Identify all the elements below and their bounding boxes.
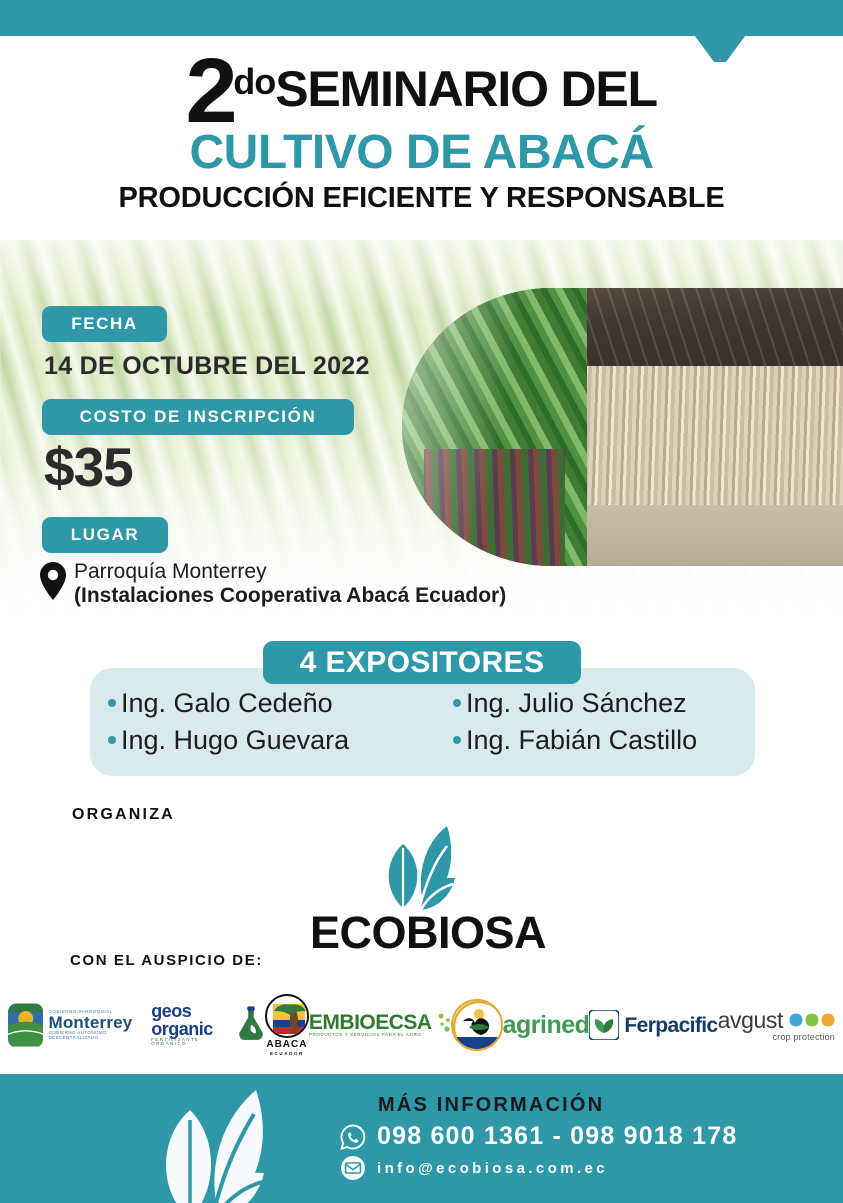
whatsapp-icon[interactable] [340, 1124, 366, 1150]
avgust-subtext: crop protection [772, 1032, 835, 1042]
abaca-circle-icon [265, 994, 309, 1038]
ciasot-badge-icon [451, 999, 503, 1051]
abaca-emblem-icon [267, 996, 309, 1038]
list-item: Ing. Galo Cedeño [108, 688, 453, 719]
geos-text: geos organic FERTILIZANTE ORGÁNICO [151, 1003, 232, 1046]
list-item: Ing. Hugo Guevara [108, 725, 453, 756]
sponsor-ferpacific: Ferpacific [589, 1010, 717, 1040]
ferpacific-name: Ferpacific [624, 1015, 717, 1036]
embioecsa-text: EMBIOECSA PRODUCTOS Y SERVICIOS PARA EL … [309, 1012, 432, 1038]
ecobiosa-wordmark: ECOBIOSA [310, 910, 540, 955]
expositores-title-pill: 4 EXPOSITORES [263, 641, 581, 684]
poster-root: 2 do SEMINARIO DEL CULTIVO DE ABACÁ PROD… [0, 0, 843, 1203]
costo-label-pill: COSTO DE INSCRIPCIÓN [42, 399, 354, 435]
expositores-list: Ing. Galo Cedeño Ing. Julio Sánchez Ing.… [108, 688, 748, 756]
footer-phone-number[interactable]: 098 600 1361 - 098 9018 178 [377, 1122, 737, 1151]
geos-line-2: organic [151, 1021, 232, 1038]
monterrey-subtext: GOBIERNO AUTONOMO DESCENTRALIZADO [48, 1031, 151, 1040]
fecha-label-pill: FECHA [42, 306, 167, 342]
lugar-line-1: Parroquía Monterrey [74, 560, 506, 584]
embioecsa-subtext: PRODUCTOS Y SERVICIOS PARA EL AGRO [309, 1033, 432, 1038]
list-item: Ing. Julio Sánchez [453, 688, 748, 719]
lugar-line-2: (Instalaciones Cooperativa Abacá Ecuador… [74, 584, 506, 608]
abaca-subtext: ECUADOR [270, 1051, 304, 1056]
sponsor-monterrey: GOBIERNO PARROQUIAL Monterrey GOBIERNO A… [8, 1002, 151, 1048]
organiza-label: ORGANIZA [72, 806, 175, 824]
headline-seminario: SEMINARIO DEL [275, 64, 657, 114]
avgust-name: avgust [718, 1009, 783, 1032]
embioecsa-name: EMBIOECSA [309, 1012, 432, 1033]
sponsor-geos-organic: geos organic FERTILIZANTE ORGÁNICO [151, 1003, 265, 1046]
headline-line-2: CULTIVO DE ABACÁ [0, 127, 843, 179]
bullet-dot-icon [453, 736, 461, 744]
monterrey-text: GOBIERNO PARROQUIAL Monterrey GOBIERNO A… [48, 1010, 151, 1041]
geos-subtext: FERTILIZANTE ORGÁNICO [151, 1038, 232, 1047]
abaca-name: ABACA [266, 1039, 307, 1050]
expositor-name: Ing. Julio Sánchez [466, 688, 687, 719]
headline-line-3: PRODUCCIÓN EFICIENTE Y RESPONSABLE [0, 183, 843, 215]
ciasot-emblem-icon [453, 1001, 503, 1051]
agrined-name: agrined [503, 1013, 590, 1038]
lugar-label-pill: LUGAR [42, 517, 168, 553]
sponsor-abaca-ecuador: ABACA ECUADOR [265, 994, 309, 1056]
fecha-value: 14 DE OCTUBRE DEL 2022 [44, 352, 370, 381]
sponsor-ciasot [451, 999, 503, 1051]
footer-email-row[interactable]: info@ecobiosa.com.ec [340, 1155, 608, 1181]
abaca-fiber-photo [402, 288, 843, 566]
envelope-icon[interactable] [340, 1155, 366, 1181]
bullet-dot-icon [108, 736, 116, 744]
ferpacific-leaf-icon [589, 1010, 619, 1040]
footer-phone-row[interactable]: 098 600 1361 - 098 9018 178 [340, 1122, 737, 1151]
avgust-dots-icon [789, 1013, 835, 1027]
lugar-block: Parroquía Monterrey (Instalaciones Coope… [40, 560, 506, 607]
monterrey-badge-icon [8, 1002, 43, 1048]
lugar-text: Parroquía Monterrey (Instalaciones Coope… [74, 560, 506, 607]
monterrey-name: Monterrey [48, 1014, 151, 1031]
headline-ordinal-number: 2 [186, 52, 234, 131]
expositor-name: Ing. Galo Cedeño [121, 688, 333, 719]
expositor-name: Ing. Hugo Guevara [121, 725, 349, 756]
top-teal-bar [0, 0, 843, 36]
ecobiosa-logo: ECOBIOSA [310, 822, 540, 955]
list-item: Ing. Fabián Castillo [453, 725, 748, 756]
sponsor-agrined: agrined [503, 1013, 590, 1038]
sponsor-logos: GOBIERNO PARROQUIAL Monterrey GOBIERNO A… [8, 988, 835, 1062]
sponsor-embioecsa: EMBIOECSA PRODUCTOS Y SERVICIOS PARA EL … [309, 1012, 451, 1038]
bullet-dot-icon [453, 699, 461, 707]
location-pin-icon [40, 562, 66, 600]
costo-value: $35 [44, 440, 133, 495]
footer-email-address[interactable]: info@ecobiosa.com.ec [377, 1160, 608, 1177]
page-title: 2 do SEMINARIO DEL CULTIVO DE ABACÁ PROD… [0, 52, 843, 215]
geos-flask-icon [237, 1005, 265, 1045]
expositor-name: Ing. Fabián Castillo [466, 725, 697, 756]
headline-line-1: 2 do SEMINARIO DEL [0, 52, 843, 131]
bullet-dot-icon [108, 699, 116, 707]
photo-edge-fade [402, 288, 843, 566]
leaf-logo-icon [363, 822, 488, 914]
geos-line-1: geos [151, 1003, 232, 1020]
auspicio-label: CON EL AUSPICIO DE: [70, 952, 263, 969]
sponsor-avgust: avgust crop protection [718, 1009, 835, 1042]
embioecsa-dots-icon [437, 1012, 451, 1038]
footer-leaf-watermark-icon [138, 1080, 298, 1203]
headline-ordinal-suffix: do [233, 64, 275, 100]
footer-title: MÁS INFORMACIÓN [378, 1094, 604, 1117]
